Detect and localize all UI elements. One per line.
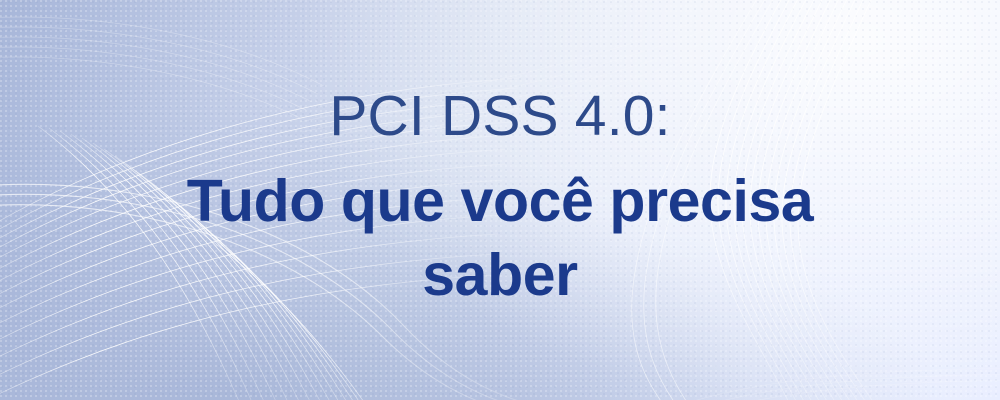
pci-dss-banner: PCI DSS 4.0: Tudo que você precisa saber [0,0,1000,400]
banner-heading-line-3: saber [422,239,577,312]
banner-heading-line-2: Tudo que você precisa [187,165,814,238]
banner-heading-line-1: PCI DSS 4.0: [329,88,670,145]
banner-text-block: PCI DSS 4.0: Tudo que você precisa saber [0,0,1000,400]
